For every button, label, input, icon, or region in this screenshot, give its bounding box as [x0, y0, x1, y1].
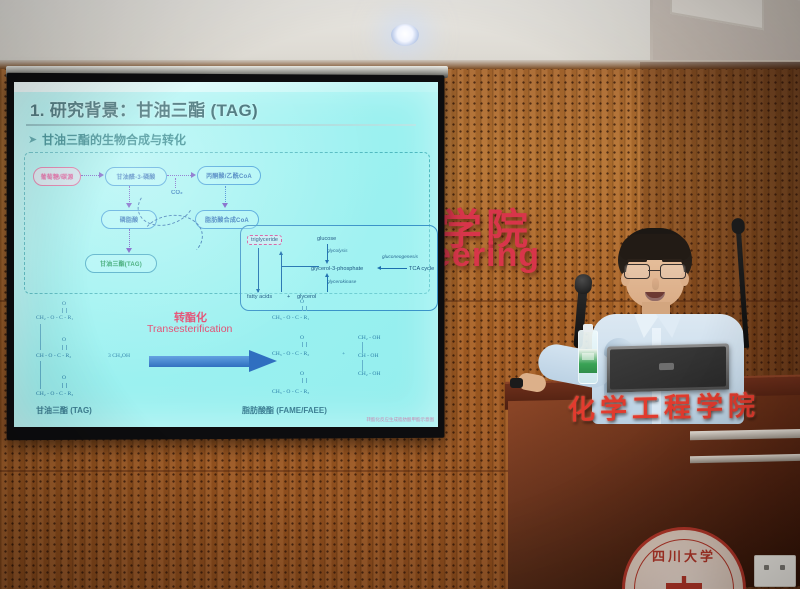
glycerol-row: CH₂ - OH: [358, 335, 380, 341]
diagram-node: 丙酮酸/乙酰CoA: [197, 166, 261, 185]
oxygen-label: O: [62, 375, 66, 381]
wall-sign-english: eering: [432, 236, 540, 275]
oxygen-label: O: [300, 371, 304, 377]
arrow-head-icon: [279, 251, 283, 255]
diagram-node: 甘油三酯(TAG): [85, 254, 157, 273]
pathway-diagram: 葡萄糖/碳源 甘油醛-3-磷酸 丙酮酸/乙酰CoA 磷脂酸 脂肪酸合成CoA 甘…: [24, 152, 430, 294]
arrow-head-icon: [126, 203, 132, 208]
glycerol-row: CH₂ - OH: [358, 371, 380, 377]
water-bottle: [578, 330, 598, 384]
slide-watermark: 转酯化反应生成脂肪酸甲酯示意图: [367, 417, 435, 423]
emblem-text: 四川大学: [625, 546, 743, 565]
product-row: CH₃ - O - C - R₁: [272, 315, 309, 321]
inset-gluconeogenesis: gluconeogenesis: [382, 255, 418, 260]
reaction-arrow-icon: [149, 352, 277, 370]
podium-sign: 化学工程学院: [568, 384, 760, 427]
arrow-head-icon: [325, 260, 329, 264]
product-row: CH₃ - O - C - R₃: [272, 389, 309, 395]
double-bond: [302, 378, 307, 383]
downlight-icon: [391, 24, 419, 46]
double-bond: [62, 383, 67, 388]
arrow-head-icon: [256, 289, 260, 293]
slide-subtitle: 甘油三酯的生物合成与转化: [42, 131, 186, 148]
bond-line: [362, 360, 363, 371]
double-bond: [302, 306, 307, 311]
reactant-caption: 甘油三酯 (TAG): [36, 405, 92, 416]
diagram-node: 葡萄糖/碳源: [33, 167, 81, 186]
oxygen-label: O: [300, 299, 304, 305]
lecture-hall-photo: 学院 eering 1. 研究背景：甘油三酯 (TAG) ➤ 甘油三酯的生物合成…: [0, 0, 800, 589]
diagram-connector: [167, 175, 193, 176]
double-bond: [62, 308, 67, 313]
inset-glycerokinase: glycerokinase: [327, 280, 356, 285]
reactant-row: CH - O - C - R₂: [36, 353, 71, 359]
glasses-icon: [624, 264, 686, 277]
wall-outlet[interactable]: [754, 555, 796, 587]
arrow-head-icon: [222, 203, 228, 208]
reaction-label-english: Transesterification: [147, 323, 232, 335]
arrow-head-icon: [126, 248, 132, 253]
inset-connector: [327, 276, 328, 292]
projector-screen: 1. 研究背景：甘油三酯 (TAG) ➤ 甘油三酯的生物合成与转化 葡萄糖/碳源…: [14, 82, 438, 427]
inset-connector: [258, 248, 259, 292]
arrow-head-icon: [325, 273, 329, 277]
slide-title: 1. 研究背景：甘油三酯 (TAG): [30, 96, 258, 121]
bullet-marker-icon: ➤: [28, 133, 37, 146]
plus-sign: +: [342, 351, 345, 357]
arrow-head-icon: [191, 172, 196, 178]
diagram-connector: [81, 175, 101, 176]
inset-glycolysis: glycolysis: [327, 249, 348, 254]
oxygen-label: O: [62, 337, 66, 343]
reactant-row: CH₂ - O - C - R₃: [36, 391, 73, 397]
arrow-head-icon: [99, 172, 104, 178]
presentation-slide: 1. 研究背景：甘油三酯 (TAG) ➤ 甘油三酯的生物合成与转化 葡萄糖/碳源…: [14, 82, 438, 427]
inset-connector: [281, 266, 319, 267]
inset-tca-cycle: TCA cycle: [409, 266, 434, 272]
diagram-node: 甘油醛-3-磷酸: [105, 167, 167, 186]
product-caption: 脂肪酸酯 (FAME/FAEE): [242, 405, 327, 416]
inset-triglyceride: triglyceride: [247, 235, 282, 245]
reaction-scheme: O CH₂ - O - C - R₁ O CH - O - C - R₂ 3 C…: [14, 297, 438, 427]
glycerol-row: CH - OH: [358, 353, 379, 359]
inset-glucose: glucose: [317, 236, 336, 242]
bond-line: [40, 361, 41, 389]
product-row: CH₃ - O - C - R₂: [272, 351, 309, 357]
title-divider: [26, 124, 416, 126]
double-bond: [302, 342, 307, 347]
bond-line: [362, 342, 363, 353]
double-bond: [62, 345, 67, 350]
reactant-row: CH₂ - O - C - R₁: [36, 315, 73, 321]
inset-connector: [281, 254, 282, 292]
oxygen-label: O: [62, 301, 66, 307]
arrow-head-icon: [377, 266, 381, 270]
reagent-label: 3 CH₃OH: [108, 353, 130, 359]
presentation-clicker[interactable]: [510, 378, 523, 388]
inset-connector: [381, 268, 407, 269]
oxygen-label: O: [300, 335, 304, 341]
bond-line: [40, 324, 41, 350]
